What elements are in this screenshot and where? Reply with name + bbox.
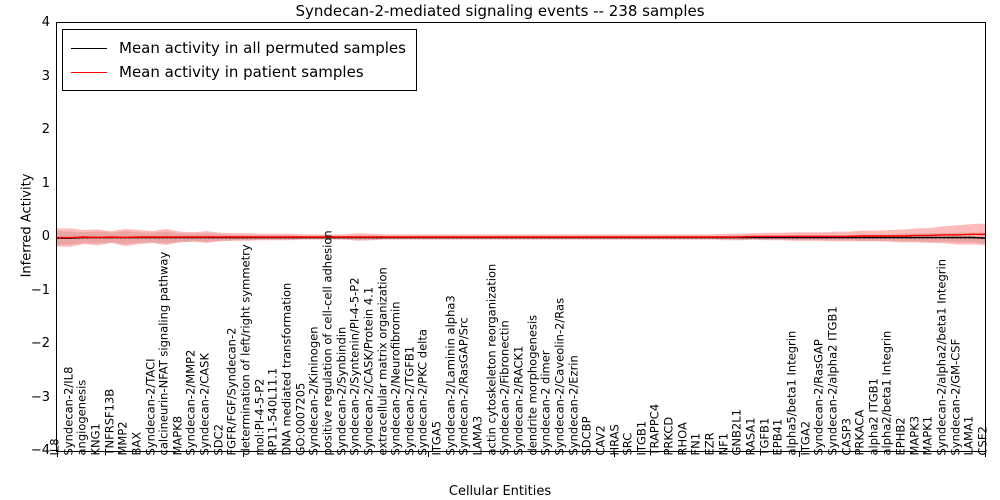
x-tick-label: Syndecan-2/Caveolin-2/Ras bbox=[554, 297, 566, 455]
x-tick-label: Syndecan-2/PKC delta bbox=[418, 329, 430, 455]
x-tick-label: Syndecan-2/alpha2 ITGB1 bbox=[827, 306, 839, 455]
x-tick-label: NF1 bbox=[718, 432, 730, 455]
x-tick-label: calcineurin-NFAT signaling pathway bbox=[159, 251, 171, 455]
x-tick-label: Syndecan-2 dimer bbox=[541, 350, 553, 455]
chart-figure: Syndecan-2-mediated signaling events -- … bbox=[0, 0, 1000, 500]
patient-confidence-band bbox=[57, 224, 985, 247]
x-tick-label: positive regulation of cell-cell adhesio… bbox=[322, 230, 334, 455]
x-tick-label: Syndecan-2/RasGAP/Src bbox=[459, 317, 471, 455]
x-tick-label: Syndecan-2/TACI bbox=[145, 358, 157, 455]
x-tick-label: extracellular matrix organization bbox=[377, 267, 389, 455]
x-tick-label: DNA mediated transformation bbox=[282, 282, 294, 455]
x-tick-label: CSF2 bbox=[978, 426, 990, 455]
x-tick-label: MAPK3 bbox=[909, 415, 921, 455]
x-tick-label: ITGA5 bbox=[432, 420, 444, 455]
x-tick-label: Syndecan-2/Syntenin/PI-4-5-P2 bbox=[350, 277, 362, 455]
legend-label-patient: Mean activity in patient samples bbox=[119, 63, 364, 81]
y-tick-label: −4 bbox=[14, 443, 50, 458]
x-tick-label: HRAS bbox=[609, 424, 621, 455]
x-tick-label: BAX bbox=[131, 431, 143, 455]
x-tick-label: ITGB1 bbox=[636, 420, 648, 455]
x-tick-label: EPHB2 bbox=[896, 417, 908, 455]
legend-swatch-permuted bbox=[71, 48, 107, 49]
x-tick-label: SRC bbox=[623, 432, 635, 455]
legend-item-permuted: Mean activity in all permuted samples bbox=[71, 36, 406, 60]
x-tick-label: IL8 bbox=[50, 438, 62, 455]
x-tick-label: GNB2L1 bbox=[732, 409, 744, 455]
legend-swatch-patient bbox=[71, 72, 107, 73]
x-tick-label: MAPK8 bbox=[172, 415, 184, 455]
chart-legend: Mean activity in all permuted samples Me… bbox=[62, 29, 417, 91]
x-tick-label: FN1 bbox=[691, 432, 703, 455]
x-tick-label: determination of left/right symmetry bbox=[241, 244, 253, 455]
x-tick-label: Syndecan-2/RasGAP bbox=[814, 339, 826, 455]
x-tick-label: Syndecan-2/Ezrin bbox=[568, 355, 580, 455]
x-tick-label: MAPK1 bbox=[923, 415, 935, 455]
x-tick-label: mol:PI-4-5-P2 bbox=[254, 378, 266, 455]
x-tick-label: CASP3 bbox=[841, 418, 853, 455]
x-tick-label: GO:0007205 bbox=[295, 382, 307, 455]
x-tick-label: Syndecan-2/IL8 bbox=[63, 366, 75, 455]
x-tick-label: Syndecan-2/Synbindin bbox=[336, 326, 348, 455]
y-tick-label: −2 bbox=[14, 336, 50, 351]
x-tick-label: EZR bbox=[705, 432, 717, 455]
x-tick-label: Syndecan-2/RACK1 bbox=[514, 345, 526, 455]
x-tick-label: Syndecan-2/MMP2 bbox=[186, 349, 198, 455]
x-tick-label: Syndecan-2/Kininogen bbox=[309, 326, 321, 455]
x-tick-label: alpha2/beta1 Integrin bbox=[882, 330, 894, 455]
x-tick-label: RP11-540L11.1 bbox=[268, 367, 280, 455]
x-tick-label: Syndecan-2/CASK/Protein 4.1 bbox=[363, 286, 375, 455]
x-tick-label: angiogenesis bbox=[77, 379, 89, 455]
x-tick-label: PRKACA bbox=[855, 409, 867, 455]
x-tick-label: alpha5/beta1 Integrin bbox=[786, 330, 798, 455]
x-tick-label: TRAPPC4 bbox=[650, 403, 662, 455]
x-tick-label: Syndecan-2/Fibronectin bbox=[500, 320, 512, 455]
x-tick-label: SDC2 bbox=[213, 423, 225, 455]
y-tick-label: 2 bbox=[14, 122, 50, 137]
x-tick-label: Syndecan-2/CASK bbox=[200, 352, 212, 455]
x-tick-label: RHOA bbox=[677, 422, 689, 455]
x-tick-label: CAV2 bbox=[595, 425, 607, 455]
x-tick-label: FGFR/FGF/Syndecan-2 bbox=[227, 327, 239, 455]
legend-label-permuted: Mean activity in all permuted samples bbox=[119, 39, 406, 57]
y-tick-label: 4 bbox=[14, 15, 50, 30]
x-tick-label: SDCBP bbox=[582, 416, 594, 455]
y-tick-label: −3 bbox=[14, 390, 50, 405]
x-tick-label: LAMA1 bbox=[964, 415, 976, 455]
x-tick-label: Syndecan-2/alpha2/beta1 Integrin bbox=[937, 258, 949, 455]
x-tick-label: actin cytoskeleton reorganization bbox=[486, 263, 498, 455]
x-tick-label: TGFB1 bbox=[759, 417, 771, 455]
legend-item-patient: Mean activity in patient samples bbox=[71, 60, 406, 84]
y-tick-label: 3 bbox=[14, 69, 50, 84]
x-tick-label: dendrite morphogenesis bbox=[527, 314, 539, 455]
y-tick-label: 0 bbox=[14, 229, 50, 244]
x-tick-label: Syndecan-2/GM-CSF bbox=[950, 338, 962, 455]
x-tick-label: RASA1 bbox=[746, 417, 758, 455]
x-tick-label: PRKCD bbox=[664, 416, 676, 455]
x-tick-label: Syndecan-2/TGFB1 bbox=[404, 345, 416, 455]
y-tick-label: 1 bbox=[14, 176, 50, 191]
x-tick-label: TNFRSF13B bbox=[104, 388, 116, 455]
x-tick-label: LAMA3 bbox=[473, 415, 485, 455]
x-tick-label: EPB41 bbox=[773, 418, 785, 455]
y-tick-label: −1 bbox=[14, 283, 50, 298]
x-tick-label: alpha2 ITGB1 bbox=[868, 378, 880, 455]
x-tick-label: Syndecan-2/Neurofibromin bbox=[391, 301, 403, 455]
x-tick-label: MMP2 bbox=[118, 421, 130, 455]
x-tick-label: KNG1 bbox=[90, 423, 102, 455]
x-tick-label: Syndecan-2/Laminin alpha3 bbox=[445, 295, 457, 455]
x-tick-label: ITGA2 bbox=[800, 420, 812, 455]
